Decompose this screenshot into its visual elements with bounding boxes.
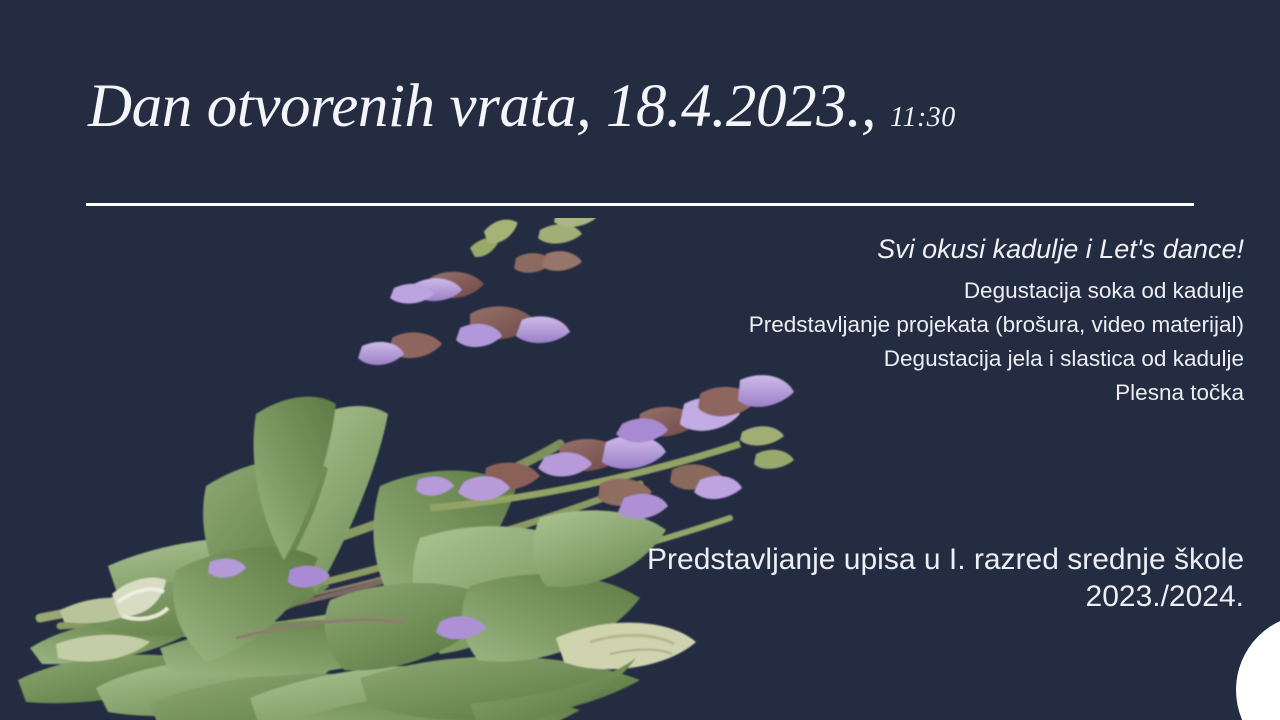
title-main-text: Dan otvorenih vrata, 18.4.2023., [88,76,876,137]
leaves-lower-group [18,537,640,720]
flower-spike-upper [358,218,596,365]
title-divider-rule [86,203,1194,206]
bud-sheath [556,623,696,670]
enrolment-line-1: Predstavljanje upisa u I. razred srednje… [604,542,1244,579]
leaves-upper-group [173,397,666,671]
leaf-tip-right [470,658,636,720]
stem-detail [236,620,404,638]
slide-title: Dan otvorenih vrata, 18.4.2023., 11:30 [88,76,1198,148]
enrolment-line-2: 2023./2024. [604,579,1244,616]
slide-canvas: Dan otvorenih vrata, 18.4.2023., 11:30 S… [0,0,1280,720]
program-heading: Svi okusi kadulje i Let's dance! [604,232,1244,268]
program-item-3: Degustacija jela i slastica od kadulje [604,342,1244,376]
program-list: Svi okusi kadulje i Let's dance! Degusta… [604,232,1244,411]
title-time-text: 11:30 [890,104,956,132]
program-item-1: Degustacija soka od kadulje [604,274,1244,308]
enrolment-note: Predstavljanje upisa u I. razred srednje… [604,542,1244,616]
program-item-2: Predstavljanje projekata (brošura, video… [604,308,1244,342]
corner-circle-decoration [1236,614,1280,720]
flower-cluster-center [208,477,486,639]
bouquet-tie-group [56,578,168,662]
program-item-4: Plesna točka [604,376,1244,410]
